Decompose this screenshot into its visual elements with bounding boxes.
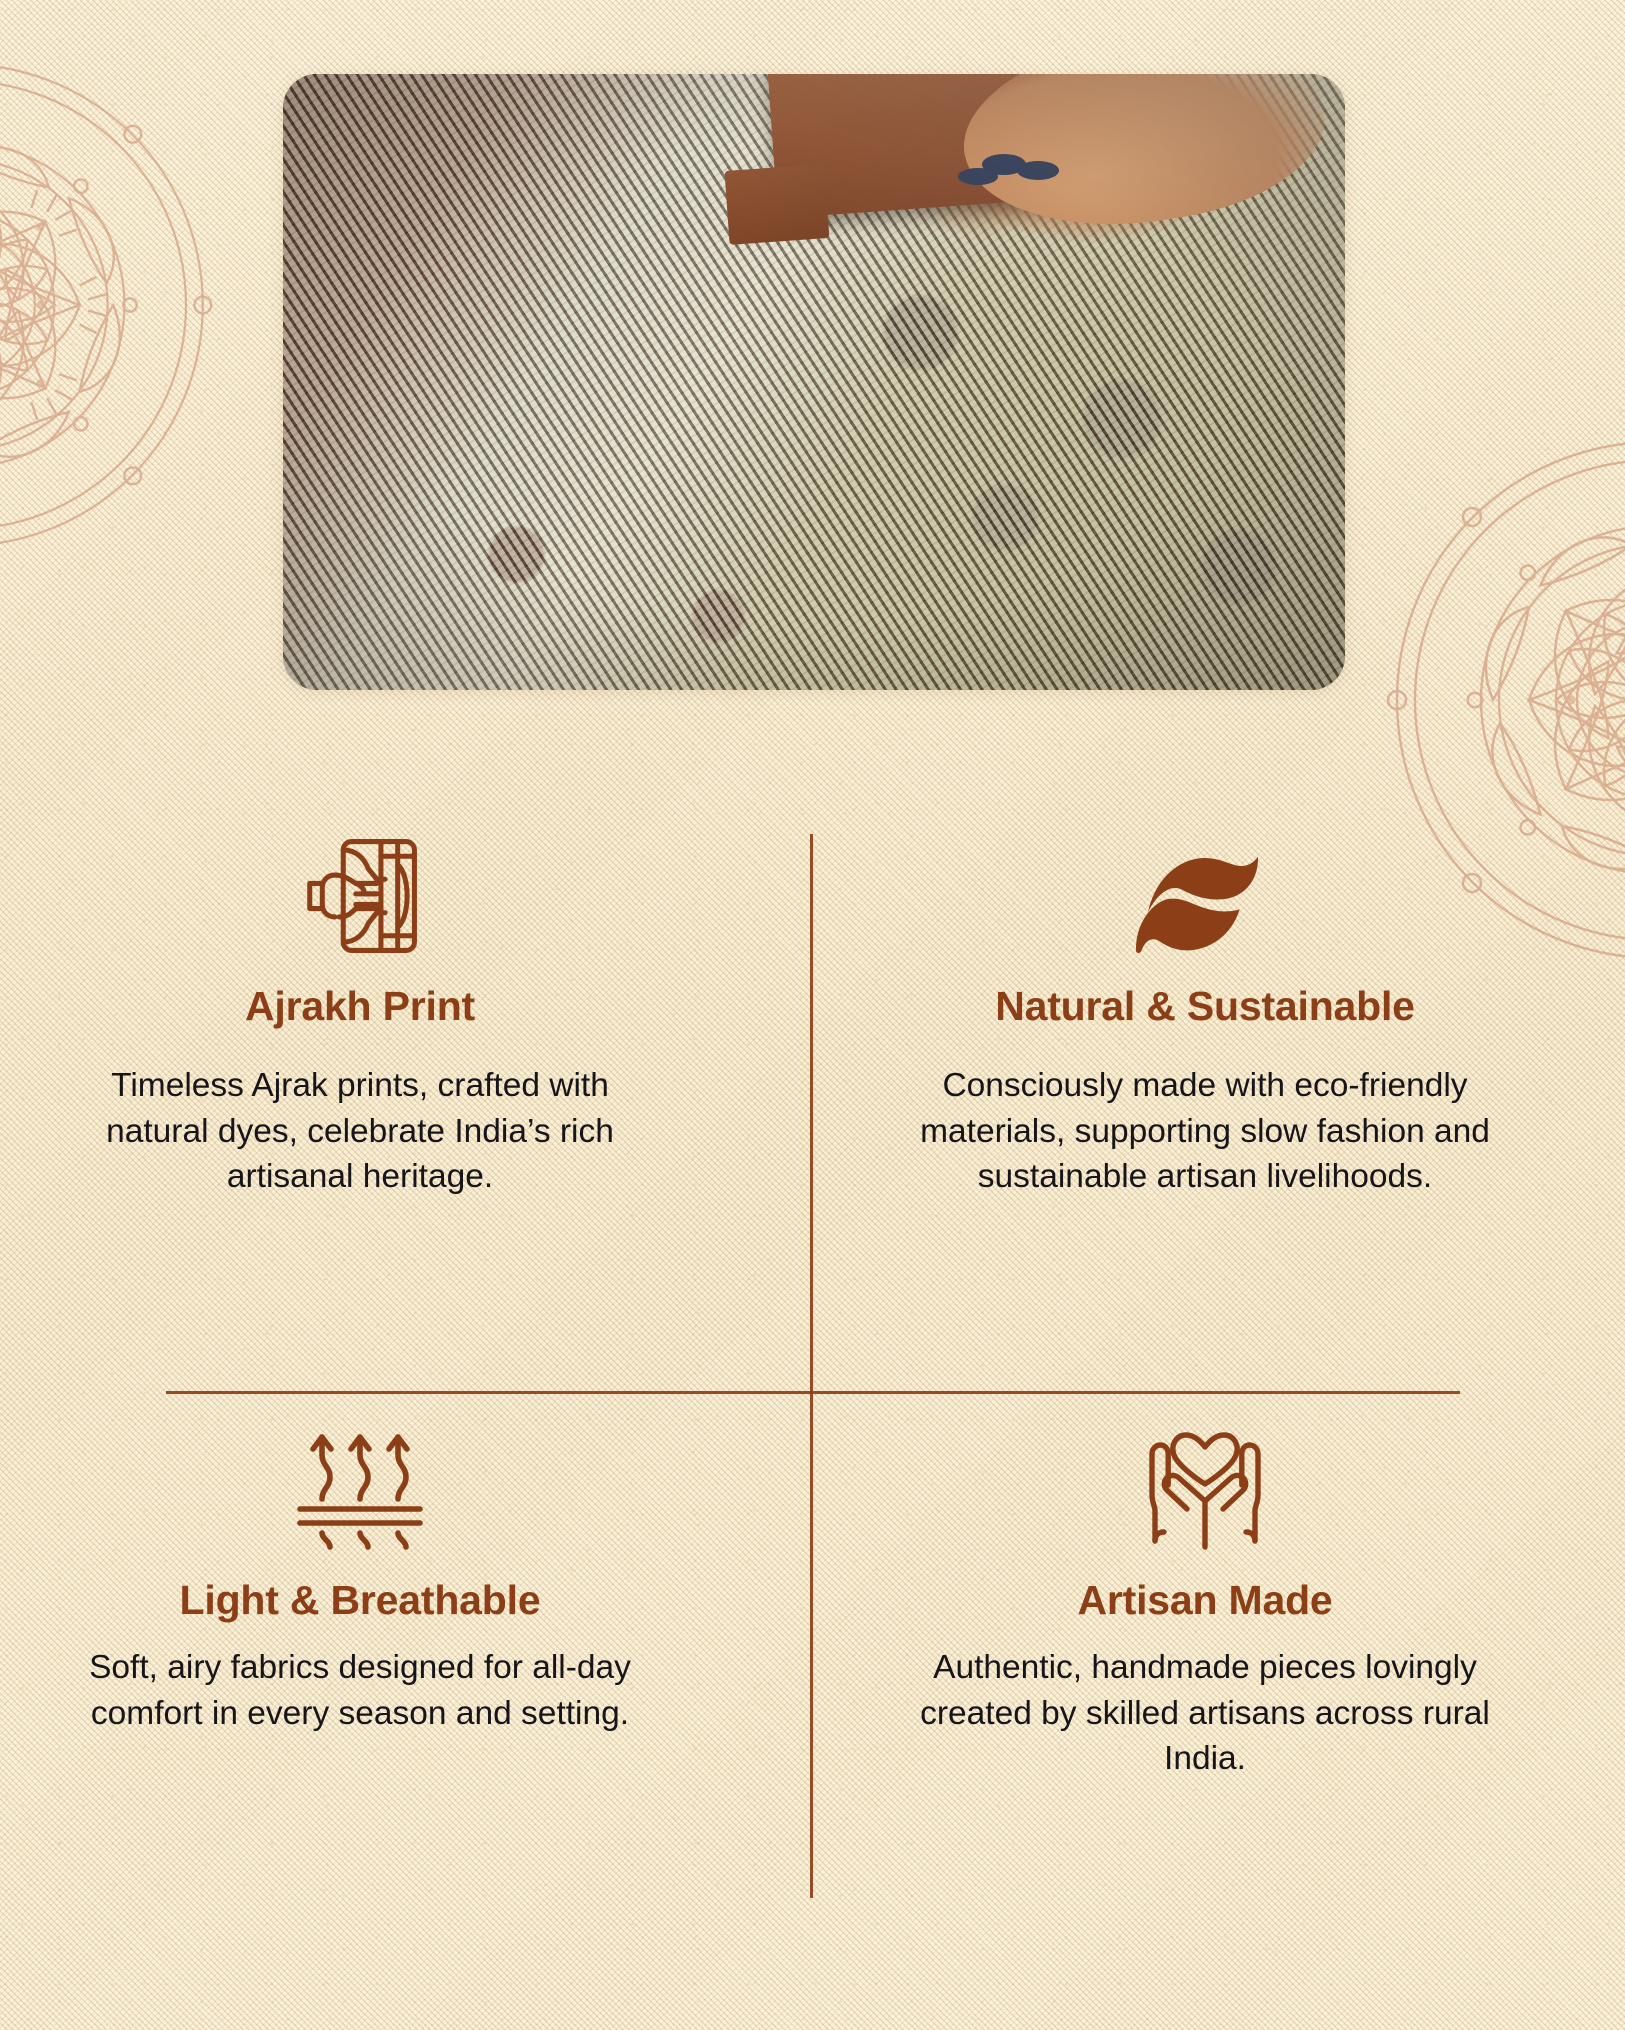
hero-image	[283, 74, 1345, 690]
feature-card-artisan-made[interactable]: Artisan Made Authentic, handmade pieces …	[895, 1420, 1515, 1782]
feature-description: Timeless Ajrak prints, crafted with natu…	[60, 1063, 660, 1200]
feature-description: Soft, airy fabrics designed for all-day …	[60, 1645, 660, 1736]
hands-holding-heart-icon	[1137, 1420, 1273, 1560]
feature-title: Artisan Made	[1077, 1578, 1332, 1623]
feature-description: Authentic, handmade pieces lovingly crea…	[905, 1645, 1505, 1782]
feature-title: Ajrakh Print	[245, 984, 475, 1029]
leaf-icon	[1131, 826, 1279, 966]
feature-card-natural-sustainable[interactable]: Natural & Sustainable Consciously made w…	[895, 826, 1515, 1200]
breathable-airflow-icon	[290, 1420, 430, 1560]
mandala-ornament-left	[0, 25, 242, 585]
hand-holding-printing-block-icon	[293, 826, 427, 966]
feature-card-light-breathable[interactable]: Light & Breathable Soft, airy fabrics de…	[50, 1420, 670, 1736]
vertical-divider	[810, 834, 813, 1898]
feature-title: Natural & Sustainable	[995, 984, 1415, 1029]
feature-description: Consciously made with eco-friendly mater…	[905, 1063, 1505, 1200]
feature-card-ajrakh-print[interactable]: Ajrakh Print Timeless Ajrak prints, craf…	[50, 826, 670, 1200]
horizontal-divider	[166, 1391, 1460, 1394]
feature-title: Light & Breathable	[180, 1578, 541, 1623]
hero-vignette	[283, 74, 1345, 690]
